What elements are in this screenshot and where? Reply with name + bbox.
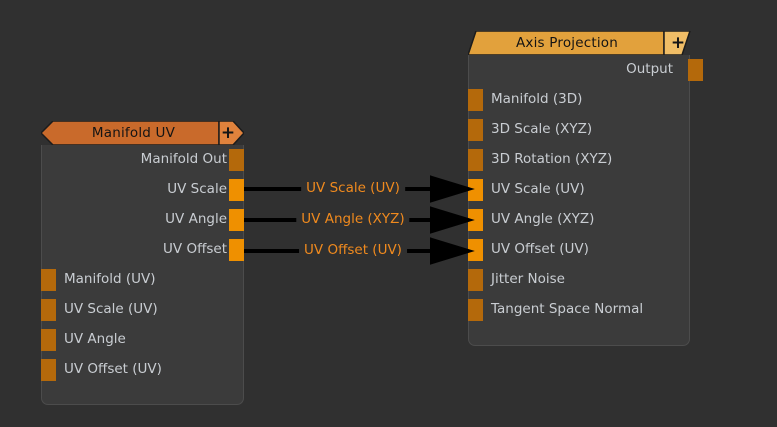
input-row-uv-offset-uv[interactable]: UV Offset (UV) — [42, 355, 243, 385]
output-row-uv-scale[interactable]: UV Scale — [42, 175, 243, 205]
output-label-output: Output — [626, 63, 675, 77]
node-header-axis-projection[interactable]: Axis Projection + — [468, 31, 690, 55]
input-port-3d-rotation-xyz[interactable] — [468, 149, 483, 171]
input-row-jitter-noise[interactable]: Jitter Noise — [469, 265, 689, 295]
output-label-uv-scale: UV Scale — [167, 183, 229, 197]
wire-arrow-uv-scale — [432, 178, 468, 200]
input-row-uv-offset-uv[interactable]: UV Offset (UV) — [469, 235, 689, 265]
node-body-manifold-uv: Manifold Out UV Scale UV Angle UV Offset… — [41, 145, 244, 405]
input-port-jitter-noise[interactable] — [468, 269, 483, 291]
input-port-uv-scale-uv[interactable] — [41, 299, 56, 321]
input-port-uv-angle[interactable] — [41, 329, 56, 351]
wire-label-uv-offset: UV Offset (UV) — [299, 243, 407, 259]
input-row-manifold-3d[interactable]: Manifold (3D) — [469, 85, 689, 115]
input-port-uv-angle-xyz[interactable] — [468, 209, 483, 231]
input-row-uv-angle-xyz[interactable]: UV Angle (XYZ) — [469, 205, 689, 235]
output-label-uv-offset: UV Offset — [163, 243, 229, 257]
input-row-3d-rotation-xyz[interactable]: 3D Rotation (XYZ) — [469, 145, 689, 175]
wire-arrow-uv-offset — [432, 240, 468, 262]
input-label-tangent-space-normal: Tangent Space Normal — [491, 303, 643, 317]
input-port-manifold-uv[interactable] — [41, 269, 56, 291]
input-row-uv-scale-uv[interactable]: UV Scale (UV) — [469, 175, 689, 205]
node-body-axis-projection: Output Manifold (3D) 3D Scale (XYZ) 3D R… — [468, 55, 690, 346]
node-header-manifold-uv[interactable]: Manifold UV + — [41, 121, 244, 145]
add-port-button-manifold-uv[interactable]: + — [215, 121, 241, 147]
input-label-uv-angle-xyz: UV Angle (XYZ) — [491, 213, 594, 227]
input-row-tangent-space-normal[interactable]: Tangent Space Normal — [469, 295, 689, 325]
output-port-uv-offset[interactable] — [229, 239, 244, 261]
input-port-uv-scale-uv[interactable] — [468, 179, 483, 201]
input-port-tangent-space-normal[interactable] — [468, 299, 483, 321]
node-title-manifold-uv: Manifold UV — [41, 121, 244, 145]
add-port-button-axis-projection[interactable]: + — [665, 31, 691, 57]
input-row-manifold-uv[interactable]: Manifold (UV) — [42, 265, 243, 295]
wire-label-uv-scale: UV Scale (UV) — [301, 181, 405, 197]
input-row-uv-scale-uv[interactable]: UV Scale (UV) — [42, 295, 243, 325]
output-row-manifold-out[interactable]: Manifold Out — [42, 145, 243, 175]
input-label-3d-rotation-xyz: 3D Rotation (XYZ) — [491, 153, 612, 167]
input-port-uv-offset-uv[interactable] — [468, 239, 483, 261]
output-port-manifold-out[interactable] — [229, 149, 244, 171]
input-label-jitter-noise: Jitter Noise — [491, 273, 565, 287]
input-label-uv-angle: UV Angle — [64, 333, 126, 347]
input-port-uv-offset-uv[interactable] — [41, 359, 56, 381]
input-label-uv-scale-uv: UV Scale (UV) — [491, 183, 585, 197]
input-port-manifold-3d[interactable] — [468, 89, 483, 111]
wire-arrow-uv-angle — [432, 209, 468, 231]
input-label-3d-scale-xyz: 3D Scale (XYZ) — [491, 123, 592, 137]
output-port-uv-angle[interactable] — [229, 209, 244, 231]
node-manifold-uv[interactable]: Manifold UV + Manifold Out UV Scale UV A… — [41, 121, 244, 405]
wire-label-uv-angle: UV Angle (XYZ) — [296, 212, 409, 228]
input-row-uv-angle[interactable]: UV Angle — [42, 325, 243, 355]
input-label-manifold-3d: Manifold (3D) — [491, 93, 582, 107]
input-label-uv-offset-uv: UV Offset (UV) — [491, 243, 589, 257]
output-label-manifold-out: Manifold Out — [141, 153, 229, 167]
output-port-output[interactable] — [688, 59, 703, 81]
node-title-axis-projection: Axis Projection — [468, 31, 690, 55]
output-label-uv-angle: UV Angle — [165, 213, 229, 227]
input-row-3d-scale-xyz[interactable]: 3D Scale (XYZ) — [469, 115, 689, 145]
node-graph-canvas[interactable]: UV Scale (UV) UV Angle (XYZ) UV Offset (… — [0, 0, 777, 427]
output-port-uv-scale[interactable] — [229, 179, 244, 201]
output-row-uv-angle[interactable]: UV Angle — [42, 205, 243, 235]
input-label-uv-scale-uv: UV Scale (UV) — [64, 303, 158, 317]
output-row-uv-offset[interactable]: UV Offset — [42, 235, 243, 265]
input-port-3d-scale-xyz[interactable] — [468, 119, 483, 141]
node-axis-projection[interactable]: Axis Projection + Output Manifold (3D) 3… — [468, 31, 690, 346]
input-label-uv-offset-uv: UV Offset (UV) — [64, 363, 162, 377]
input-label-manifold-uv: Manifold (UV) — [64, 273, 156, 287]
output-row-output[interactable]: Output — [469, 55, 689, 85]
